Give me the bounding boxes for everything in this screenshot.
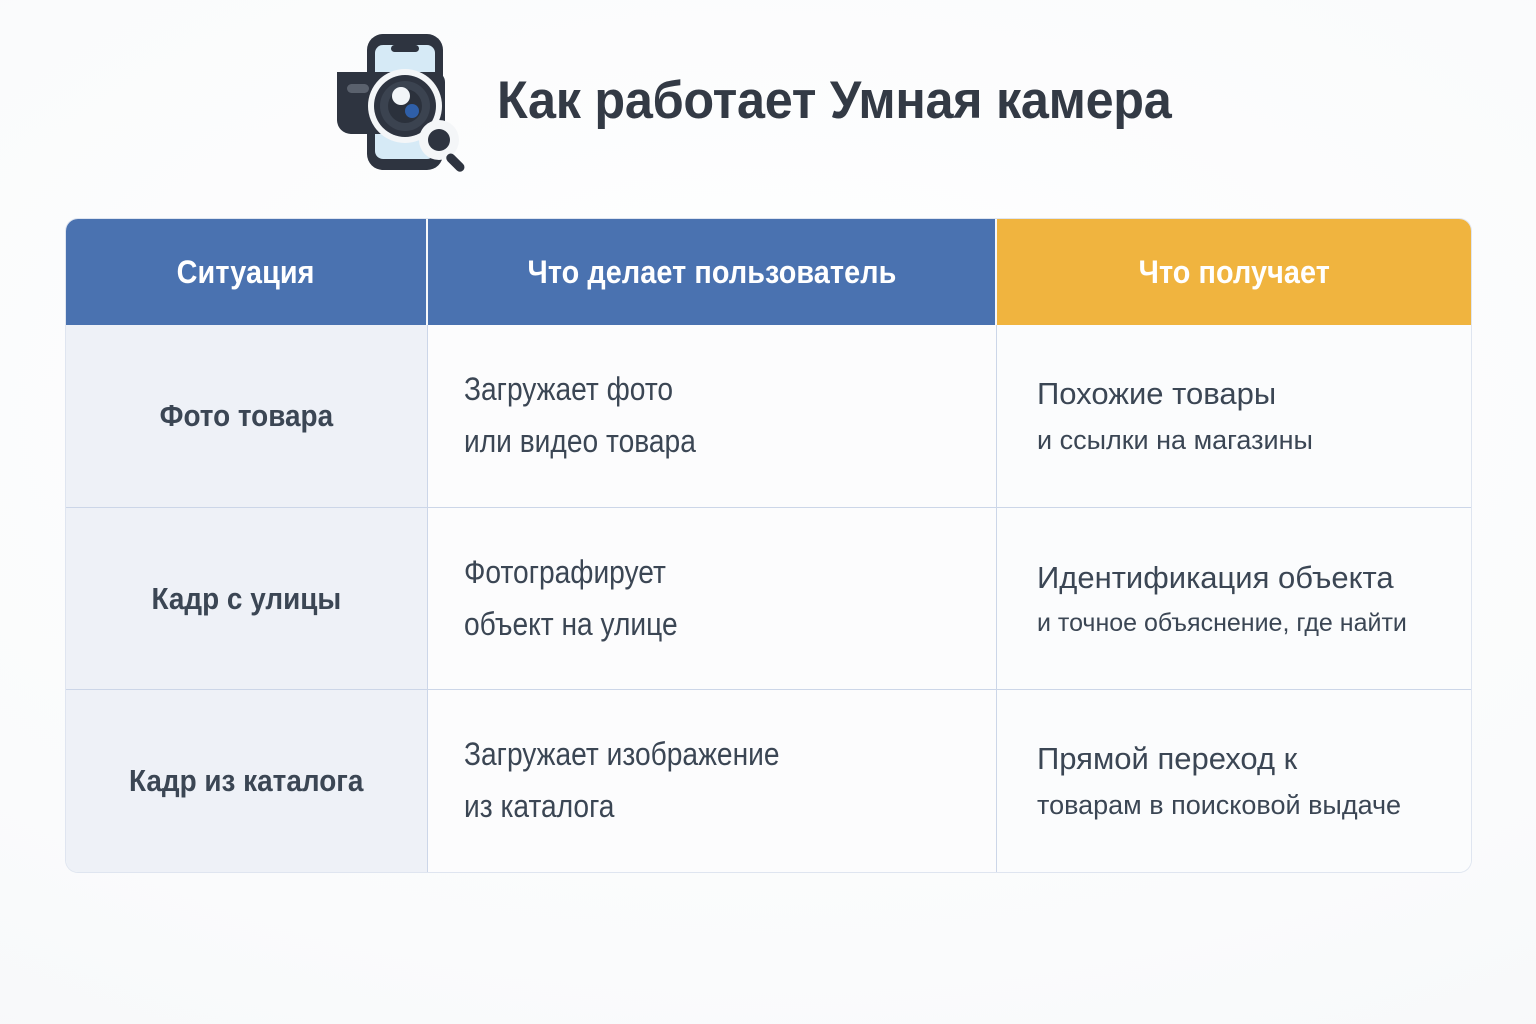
cell-user-action: Фотографирует объект на улице [428,508,997,690]
user-action-line-1: Загружает изображение [464,729,932,781]
column-header-user-action-label: Что делает пользователь [527,254,896,291]
smart-camera-icon [329,28,471,176]
table-row: Кадр с улицы Фотографирует объект на ули… [66,507,1471,690]
column-header-situation-label: Ситуация [177,254,315,291]
table-row: Кадр из каталога Загружает изображение и… [66,689,1471,872]
cell-situation: Кадр из каталога [66,690,428,872]
page-title: Как работает Умная камера [497,70,1171,131]
comparison-table: Ситуация Что делает пользователь Что пол… [66,219,1471,872]
column-header-user-action: Что делает пользователь [428,219,997,325]
situation-label: Кадр с улицы [152,581,342,617]
cell-user-action: Загружает фото или видео товара [428,325,997,507]
cell-result: Прямой переход к товарам в поисковой выд… [997,690,1471,872]
table-row: Фото товара Загружает фото или видео тов… [66,325,1471,507]
user-action-line-1: Загружает фото [464,364,932,416]
cell-situation: Фото товара [66,325,428,507]
table-header-row: Ситуация Что делает пользователь Что пол… [66,219,1471,325]
result-line-1: Похожие товары [1037,369,1471,419]
user-action-line-2: объект на улице [464,599,932,651]
page-header: Как работает Умная камера [0,0,1536,200]
result-line-1: Идентификация объекта [1037,553,1471,603]
table-body: Фото товара Загружает фото или видео тов… [66,325,1471,872]
user-action-line-2: из каталога [464,781,932,833]
situation-label: Фото товара [160,398,333,434]
column-header-result: Что получает [997,219,1471,325]
result-line-2: и ссылки на магазины [1037,419,1471,463]
situation-label: Кадр из каталога [129,763,363,799]
column-header-result-label: Что получает [1138,254,1329,291]
cell-situation: Кадр с улицы [66,508,428,690]
cell-result: Похожие товары и ссылки на магазины [997,325,1471,507]
result-line-2: и точное объяснение, где найти [1037,603,1471,644]
result-line-1: Прямой переход к [1037,734,1471,784]
cell-user-action: Загружает изображение из каталога [428,690,997,872]
column-header-situation: Ситуация [66,219,428,325]
user-action-line-1: Фотографирует [464,547,932,599]
user-action-line-2: или видео товара [464,416,932,468]
result-line-2: товарам в поисковой выдаче [1037,784,1471,828]
cell-result: Идентификация объекта и точное объяснени… [997,508,1471,690]
